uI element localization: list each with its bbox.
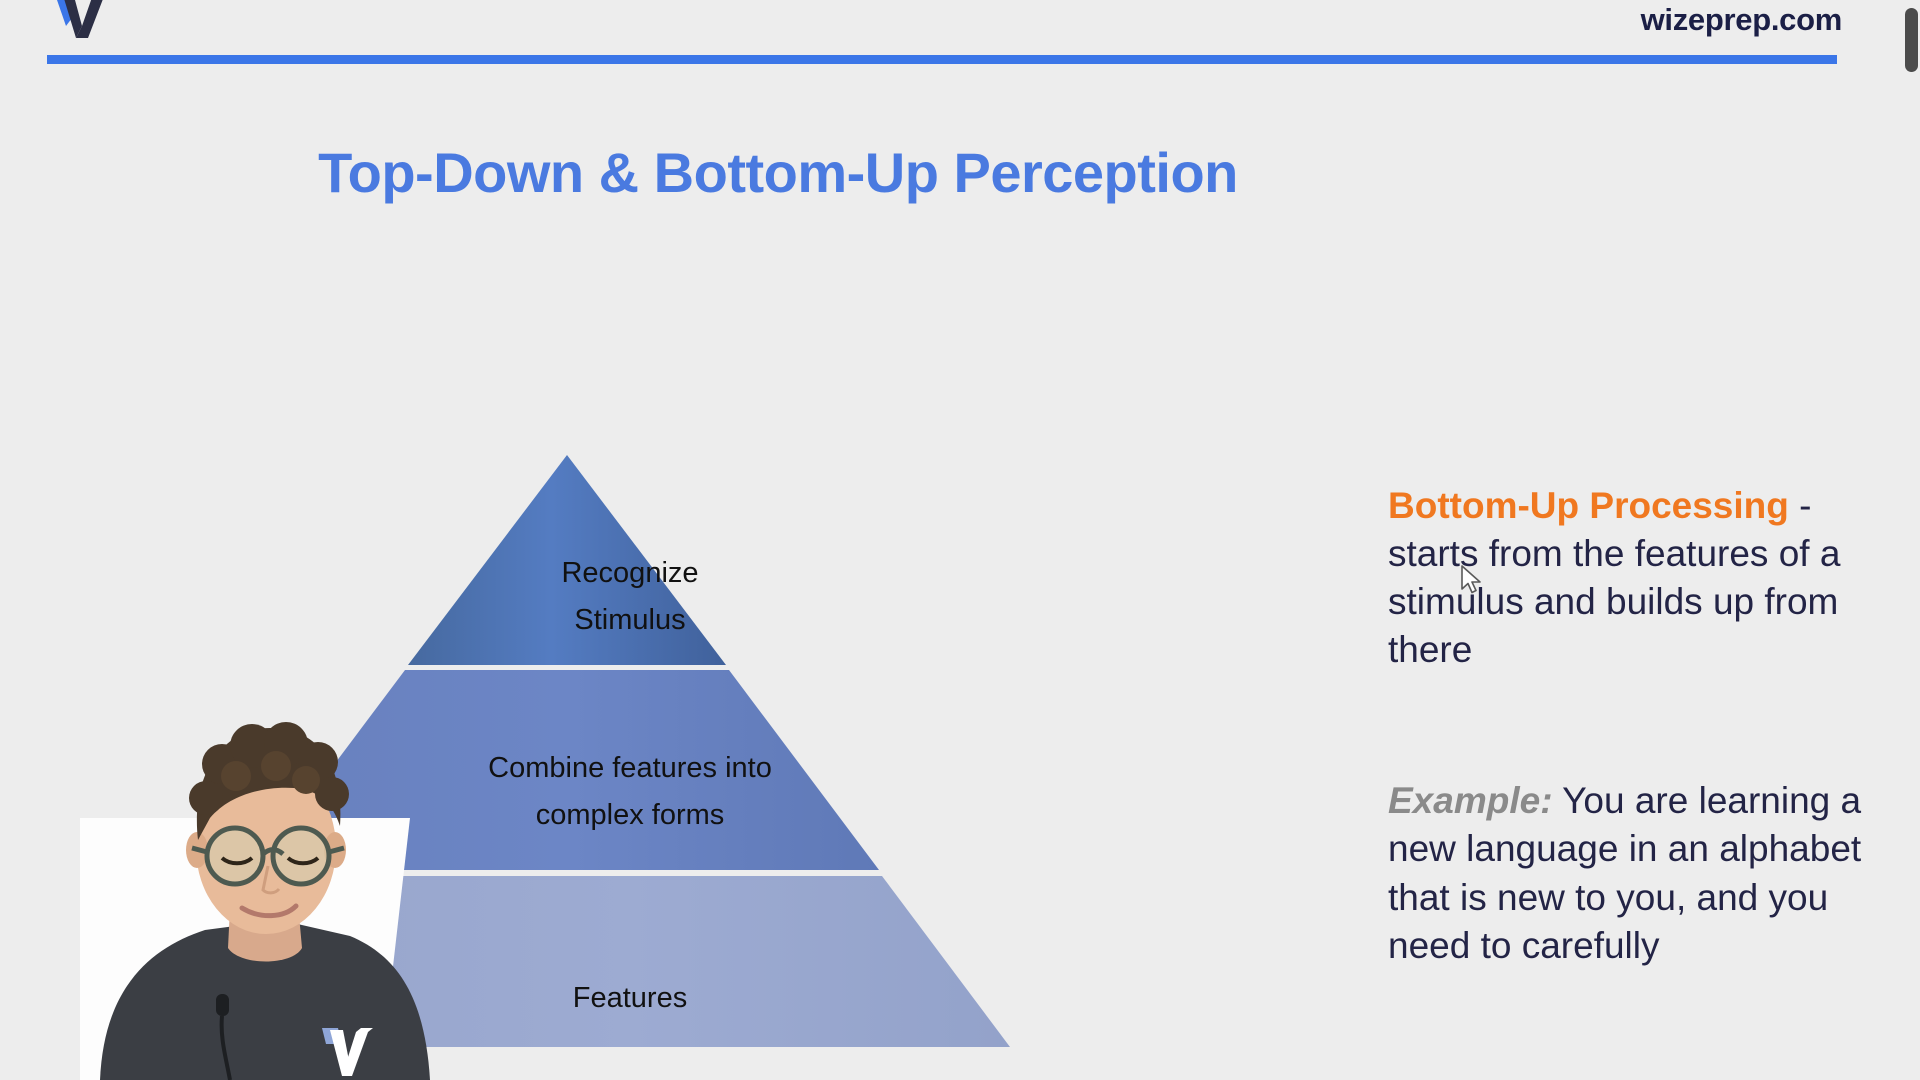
pyramid-level-top-label: Recognize Stimulus xyxy=(445,550,815,644)
scrollbar-thumb[interactable] xyxy=(1905,8,1918,72)
brand-wordmark: wizeprep.com xyxy=(1641,2,1842,38)
wizeprep-w-logo-icon xyxy=(46,0,118,40)
bottom-up-definition-paragraph: Bottom-Up Processing - starts from the f… xyxy=(1388,482,1870,674)
bottom-up-processing-term: Bottom-Up Processing xyxy=(1388,485,1789,526)
presenter-webcam-overlay xyxy=(80,698,480,1080)
example-paragraph: Example: You are learning a new language… xyxy=(1388,777,1870,969)
explanation-column: Bottom-Up Processing - starts from the f… xyxy=(1388,482,1870,970)
example-label: Example: xyxy=(1388,780,1553,821)
page-title: Top-Down & Bottom-Up Perception xyxy=(0,140,1556,205)
header-divider-rule xyxy=(47,55,1837,64)
slide-header: wizeprep.com xyxy=(0,0,1920,72)
vertical-scrollbar[interactable] xyxy=(1903,0,1920,1080)
slide-canvas: wizeprep.com Top-Down & Bottom-Up Percep… xyxy=(0,0,1920,1080)
